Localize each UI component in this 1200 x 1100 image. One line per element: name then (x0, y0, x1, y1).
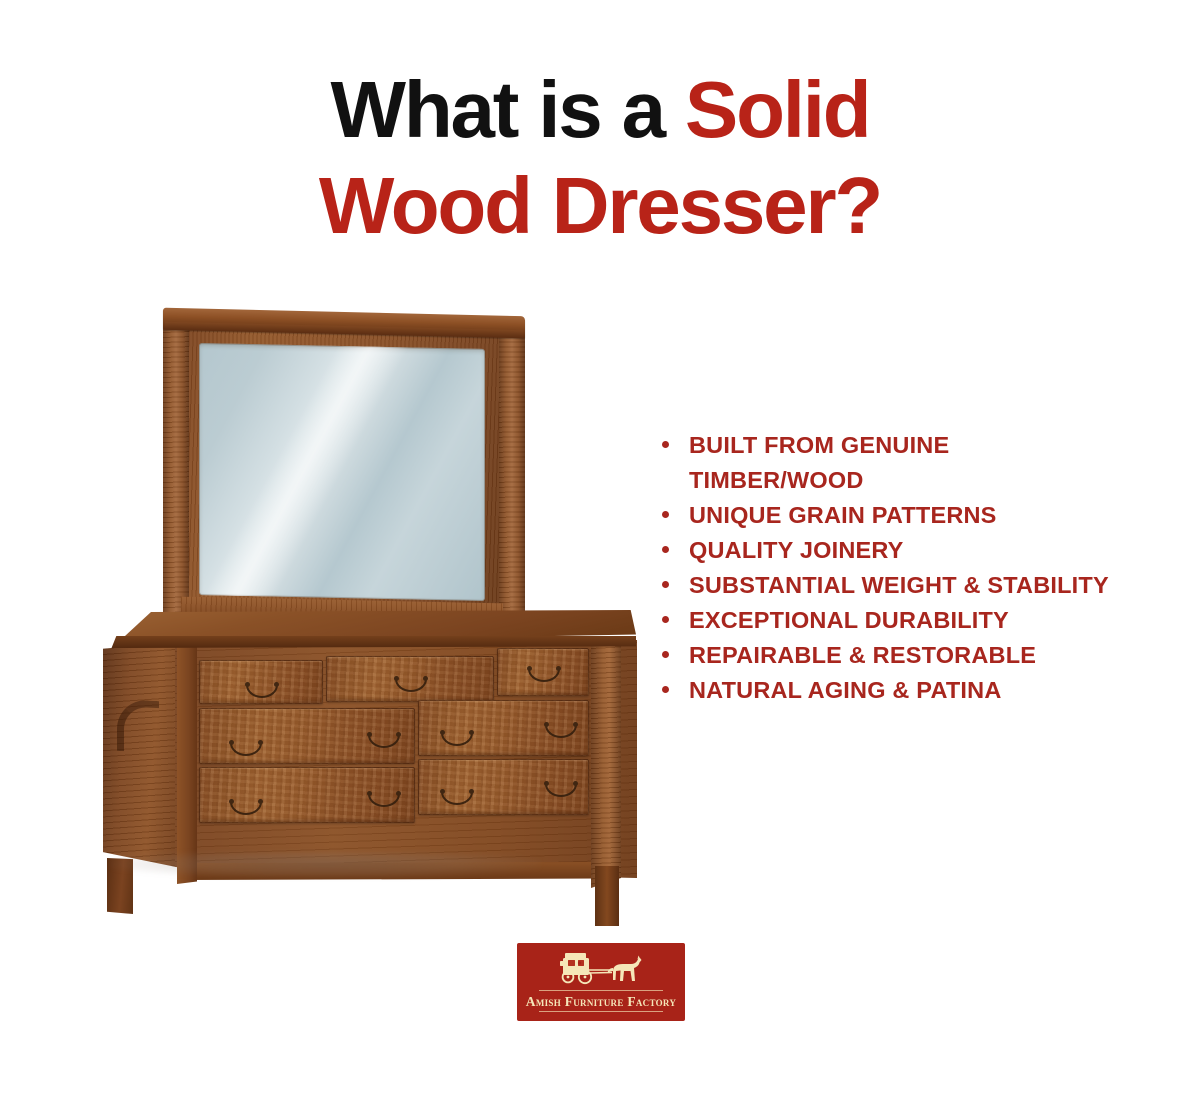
drawer-pull-icon[interactable] (368, 735, 400, 748)
bullet-dot-icon (662, 511, 669, 518)
drawer-pull-icon[interactable] (441, 733, 473, 746)
drawer-pull-icon[interactable] (246, 685, 278, 698)
page-title-part-black: What is a (331, 65, 685, 154)
logo-rule-top (539, 990, 663, 991)
product-image (95, 300, 650, 920)
corbel-bracket-icon (117, 699, 159, 753)
bullet-dot-icon (662, 616, 669, 623)
page-title-part-red: Solid (685, 65, 870, 154)
drawer-pull-icon[interactable] (230, 743, 262, 756)
drawer-top-left[interactable] (199, 660, 323, 704)
list-item: Repairable & restorable (662, 638, 1114, 673)
feature-label: Quality joinery (689, 533, 904, 568)
list-item: Exceptional durability (662, 603, 1114, 638)
dresser-top-edge (103, 636, 636, 648)
drawer-pull-icon[interactable] (395, 679, 427, 692)
bullet-dot-icon (662, 651, 669, 658)
dresser-post-left (177, 632, 197, 884)
drawer-middle-left[interactable] (199, 708, 415, 764)
drawer-bottom-right[interactable] (418, 759, 589, 815)
dresser-mirror (163, 312, 525, 624)
drawer-pull-icon[interactable] (528, 669, 560, 682)
horse-and-buggy-icon (517, 949, 685, 989)
brand-logo[interactable]: Amish Furniture Factory (517, 943, 685, 1021)
feature-list: Built from genuine timber/wood Unique gr… (662, 428, 1114, 708)
page-title-line-2: Wood Dresser? (0, 158, 1200, 254)
list-item: Unique grain patterns (662, 498, 1114, 533)
list-item: Quality joinery (662, 533, 1114, 568)
bullet-dot-icon (662, 581, 669, 588)
drawer-pull-icon[interactable] (368, 794, 400, 807)
drawer-pull-icon[interactable] (545, 784, 577, 797)
logo-rule-bottom (539, 1011, 663, 1012)
poster-canvas: What is a Solid Wood Dresser? (0, 0, 1200, 1100)
drawer-bottom-left[interactable] (199, 767, 415, 823)
dresser-side-panel (103, 642, 181, 868)
list-item: Substantial weight & stability (662, 568, 1114, 603)
logo-wordmark: Amish Furniture Factory (517, 993, 685, 1010)
bullet-dot-icon (662, 686, 669, 693)
product-shadow (110, 852, 540, 878)
feature-label: Repairable & restorable (689, 638, 1036, 673)
bullet-dot-icon (662, 546, 669, 553)
feature-label: Built from genuine timber/wood (689, 428, 1114, 498)
feature-label: Substantial weight & stability (689, 568, 1109, 603)
mirror-post-left (163, 322, 189, 622)
page-title-line-1: What is a Solid (0, 62, 1200, 158)
drawer-top-right[interactable] (497, 648, 589, 696)
mirror-glass (199, 343, 485, 601)
drawer-pull-icon[interactable] (230, 802, 262, 815)
dresser-leg-right (595, 866, 619, 926)
feature-label: Unique grain patterns (689, 498, 997, 533)
drawer-middle-right[interactable] (418, 700, 589, 756)
drawer-top-center[interactable] (326, 656, 494, 702)
dresser-post-right (591, 638, 621, 888)
drawer-pull-icon[interactable] (441, 792, 473, 805)
mirror-post-right (499, 322, 525, 623)
list-item: Natural aging & patina (662, 673, 1114, 708)
feature-label: Exceptional durability (689, 603, 1009, 638)
list-item: Built from genuine timber/wood (662, 428, 1114, 498)
drawer-pull-icon[interactable] (545, 725, 577, 738)
feature-label: Natural aging & patina (689, 673, 1002, 708)
page-title: What is a Solid Wood Dresser? (0, 62, 1200, 254)
bullet-dot-icon (662, 441, 669, 448)
